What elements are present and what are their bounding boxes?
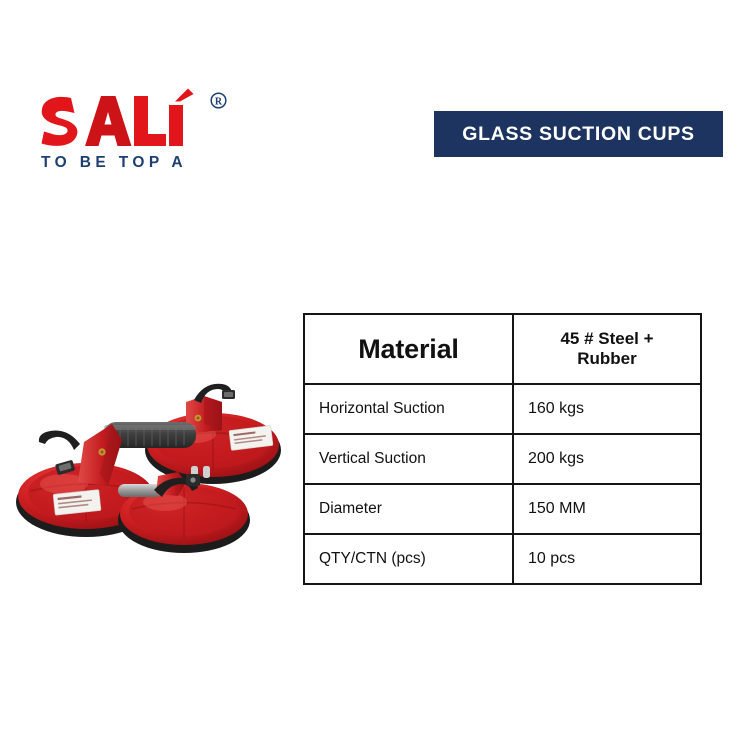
spec-label: QTY/CTN (pcs) bbox=[304, 534, 513, 584]
spec-header-value-line2: Rubber bbox=[577, 349, 637, 368]
spec-header-value-line1: 45 # Steel + bbox=[560, 329, 653, 348]
spec-label: Horizontal Suction bbox=[304, 384, 513, 434]
table-row: QTY/CTN (pcs) 10 pcs bbox=[304, 534, 701, 584]
product-spec-page: R TO BE TOP A GLASS SUCTION CUPS bbox=[0, 0, 730, 730]
table-row: Horizontal Suction 160 kgs bbox=[304, 384, 701, 434]
spec-header-value: 45 # Steel + Rubber bbox=[513, 314, 701, 384]
spec-value: 160 kgs bbox=[513, 384, 701, 434]
table-row-header: Material 45 # Steel + Rubber bbox=[304, 314, 701, 384]
product-photo bbox=[8, 378, 300, 568]
page-title: GLASS SUCTION CUPS bbox=[462, 123, 695, 146]
sali-wordmark-icon bbox=[38, 88, 213, 150]
svg-text:R: R bbox=[215, 96, 223, 107]
page-title-banner: GLASS SUCTION CUPS bbox=[434, 111, 723, 157]
brand-logo: R TO BE TOP A bbox=[38, 88, 253, 188]
table-row: Diameter 150 MM bbox=[304, 484, 701, 534]
table-row: Vertical Suction 200 kgs bbox=[304, 434, 701, 484]
spec-header-label: Material bbox=[304, 314, 513, 384]
brand-tagline: TO BE TOP A bbox=[41, 154, 187, 172]
spec-label: Vertical Suction bbox=[304, 434, 513, 484]
spec-label: Diameter bbox=[304, 484, 513, 534]
registered-trademark-icon: R bbox=[210, 92, 227, 109]
spec-value: 10 pcs bbox=[513, 534, 701, 584]
spec-value: 150 MM bbox=[513, 484, 701, 534]
spec-value: 200 kgs bbox=[513, 434, 701, 484]
specification-table: Material 45 # Steel + Rubber Horizontal … bbox=[303, 313, 702, 585]
